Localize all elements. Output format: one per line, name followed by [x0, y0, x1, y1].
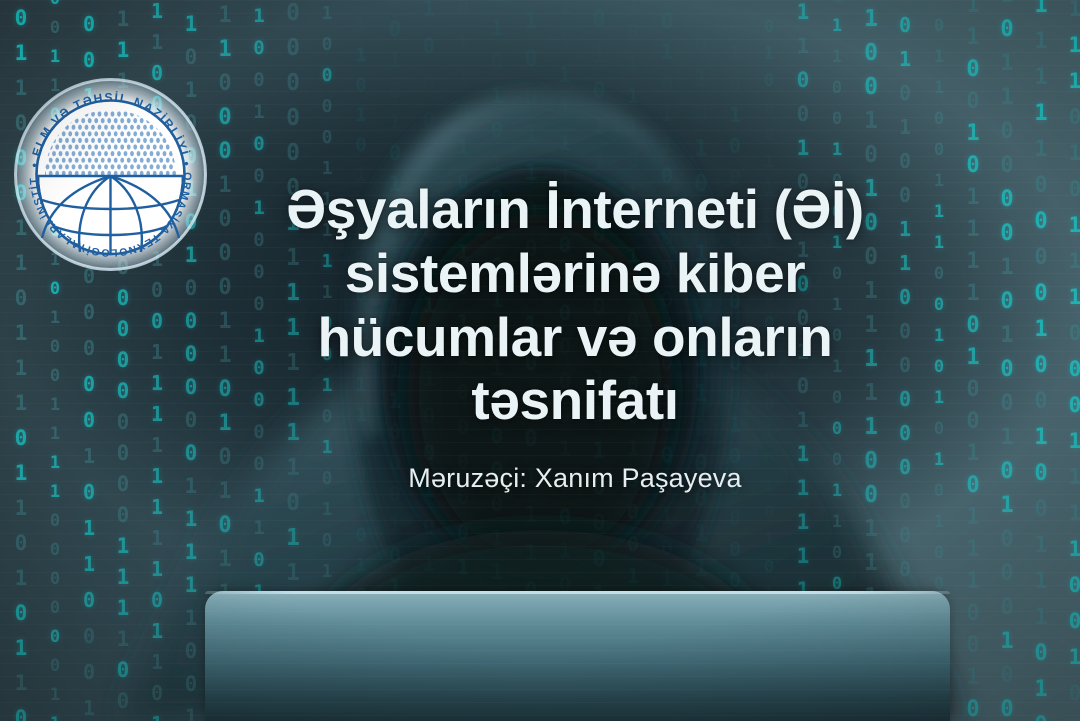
- slide-title: Əşyaların İnterneti (Əİ) sistemlərinə ki…: [180, 178, 970, 433]
- title-line-1: Əşyaların İnterneti (Əİ): [180, 178, 970, 242]
- slide-text-block: Əşyaların İnterneti (Əİ) sistemlərinə ki…: [180, 178, 970, 494]
- binary-column: 011101011100011110010110: [1058, 0, 1080, 721]
- binary-column: 010101100001010010100010001: [990, 0, 1024, 721]
- presentation-slide: 1011000110111011010110111000011000001010…: [0, 0, 1080, 721]
- title-line-4: təsnifatı: [180, 369, 970, 433]
- title-line-2: sistemlərinə kiber: [180, 242, 970, 306]
- title-line-3: hücumlar və onların: [180, 306, 970, 370]
- binary-column: 10111111000010010011101010: [1024, 0, 1058, 721]
- laptop-device: [205, 591, 950, 721]
- slide-subtitle-presenter: Məruzəçi: Xanım Paşayeva: [180, 463, 970, 494]
